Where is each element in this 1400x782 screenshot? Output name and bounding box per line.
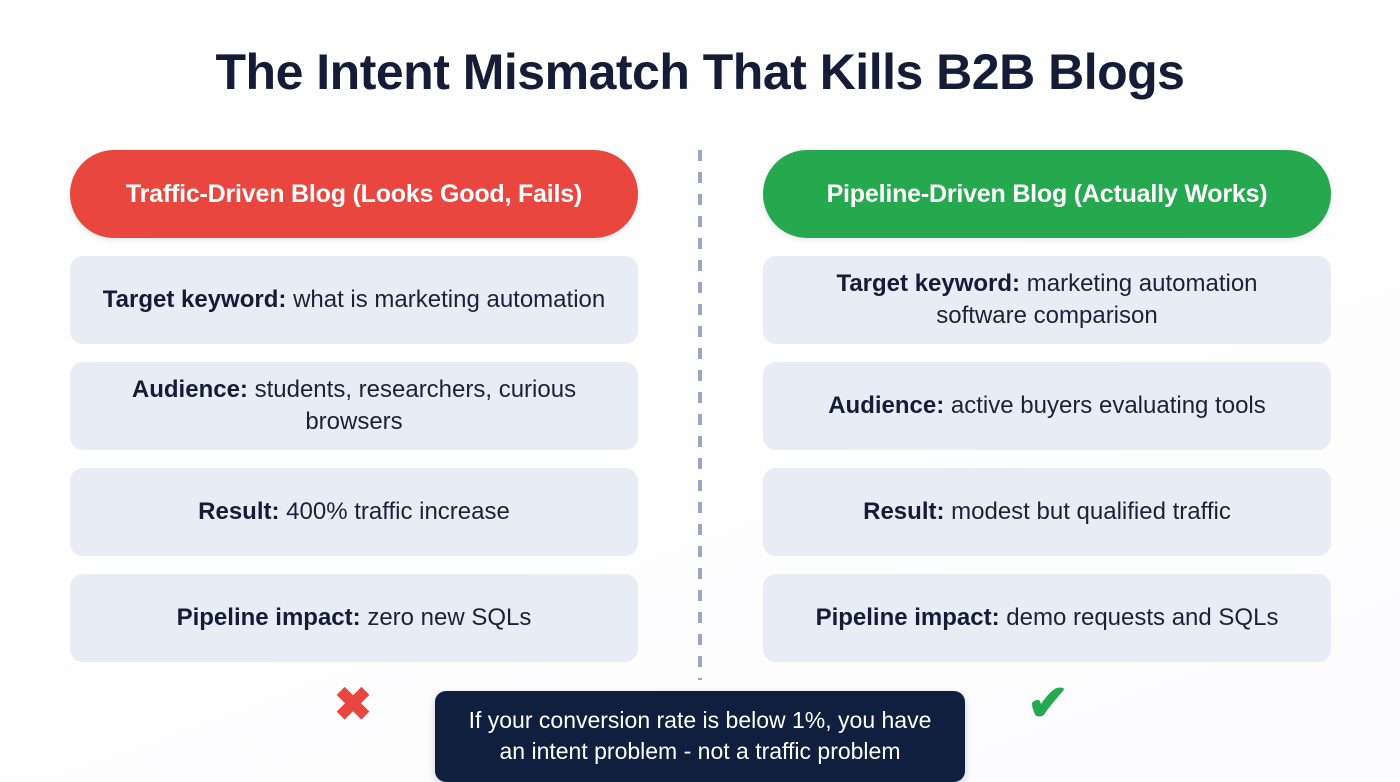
table-row: Result: modest but qualified traffic: [763, 468, 1331, 556]
column-pipeline-driven: Pipeline-Driven Blog (Actually Works) Ta…: [763, 150, 1331, 662]
column-traffic-driven: Traffic-Driven Blog (Looks Good, Fails) …: [70, 150, 638, 662]
check-icon: ✔: [1022, 678, 1074, 728]
table-row: Audience: students, researchers, curious…: [70, 362, 638, 450]
row-value: students, researchers, curious browsers: [255, 376, 576, 435]
row-label: Audience:: [132, 376, 248, 403]
infographic-canvas: The Intent Mismatch That Kills B2B Blogs…: [0, 0, 1400, 781]
row-label: Target keyword:: [103, 286, 287, 313]
page-title: The Intent Mismatch That Kills B2B Blogs: [0, 44, 1400, 102]
row-label: Result:: [863, 498, 944, 525]
row-label: Pipeline impact:: [816, 604, 1000, 631]
row-label: Pipeline impact:: [177, 604, 361, 631]
row-value: what is marketing automation: [293, 286, 605, 313]
row-label: Audience:: [828, 392, 944, 419]
row-value: zero new SQLs: [367, 604, 531, 631]
row-value: modest but qualified traffic: [951, 498, 1231, 525]
table-row: Pipeline impact: demo requests and SQLs: [763, 574, 1331, 662]
row-value: 400% traffic increase: [286, 498, 510, 525]
table-row: Pipeline impact: zero new SQLs: [70, 574, 638, 662]
row-label: Result:: [198, 498, 279, 525]
column-heading-traffic-driven: Traffic-Driven Blog (Looks Good, Fails): [70, 150, 638, 238]
callout-box: If your conversion rate is below 1%, you…: [435, 691, 965, 782]
row-value: demo requests and SQLs: [1006, 604, 1278, 631]
row-label: Target keyword:: [836, 270, 1020, 297]
callout-line-2: an intent problem - not a traffic proble…: [457, 736, 943, 767]
column-heading-pipeline-driven: Pipeline-Driven Blog (Actually Works): [763, 150, 1331, 238]
table-row: Target keyword: what is marketing automa…: [70, 256, 638, 344]
column-divider: [698, 150, 702, 680]
table-row: Audience: active buyers evaluating tools: [763, 362, 1331, 450]
table-row: Target keyword: marketing automation sof…: [763, 256, 1331, 344]
callout-line-1: If your conversion rate is below 1%, you…: [457, 705, 943, 736]
cross-icon: ✖: [328, 681, 378, 727]
row-value: active buyers evaluating tools: [951, 392, 1266, 419]
table-row: Result: 400% traffic increase: [70, 468, 638, 556]
